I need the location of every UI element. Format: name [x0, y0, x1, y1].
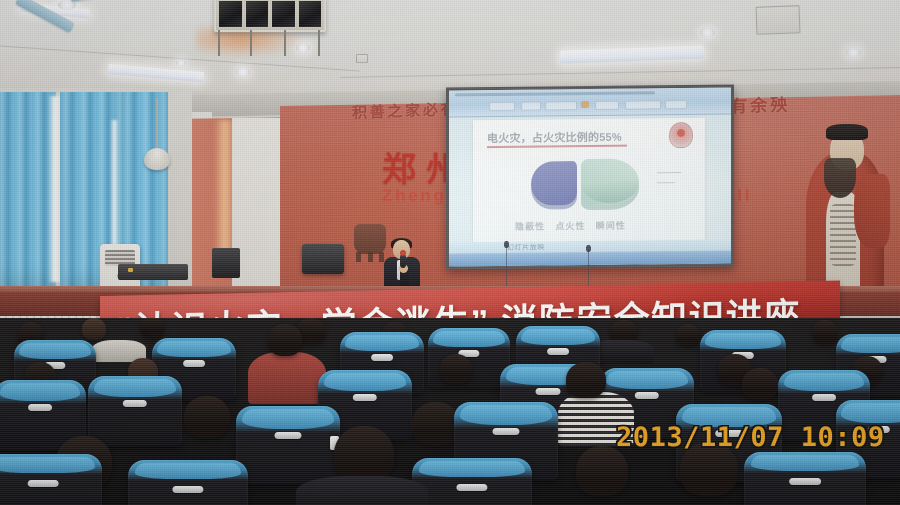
audience-seating-area: [0, 318, 900, 505]
speaker-hanging-rod: [156, 98, 158, 150]
projector-cell: [245, 0, 270, 28]
audience-head: [812, 320, 838, 344]
seat: [744, 452, 866, 505]
stage-subwoofer: [302, 244, 344, 274]
seat: [0, 454, 102, 505]
seat: [412, 458, 532, 505]
figure-sash: [830, 204, 856, 266]
audience-shoulders-red-shirt: [248, 352, 326, 404]
chart-legend-line: [657, 172, 681, 173]
seat: [128, 460, 248, 505]
downlight: [176, 60, 186, 66]
figure-sleeve: [854, 174, 890, 248]
confucius-figure-illustration: [796, 108, 900, 306]
stage-loudspeaker: [212, 248, 240, 278]
audience-shoulders: [296, 476, 428, 505]
downlight: [236, 68, 250, 76]
seat: [236, 406, 340, 484]
projector-enclosure: [214, 0, 326, 32]
mixer-indicator-light: [128, 268, 133, 272]
pie-chart: [531, 158, 649, 215]
camera-timestamp: 2013/11/07 10:09: [616, 422, 885, 453]
strip-light: [560, 45, 704, 63]
ceiling-fan: [14, 0, 124, 36]
projector-cell: [218, 0, 243, 28]
handheld-microphone: [400, 254, 406, 268]
audio-mixer: [118, 264, 188, 280]
audience-head: [140, 318, 164, 338]
chart-legend-line: [657, 182, 675, 183]
audience-head: [268, 324, 302, 356]
projector-support-rods: [218, 30, 323, 56]
urn-legs: [356, 252, 384, 262]
audience-head: [440, 354, 472, 384]
audience-head: [576, 446, 628, 496]
seat: [88, 376, 182, 446]
projection-screen: 电火灾，占火灾比例的55% 隐蔽性 点火性 瞬间性 幻灯片放映: [446, 84, 734, 269]
figure-beard: [824, 158, 856, 198]
ceiling-vent: [756, 5, 801, 35]
projected-image: 电火灾，占火灾比例的55% 隐蔽性 点火性 瞬间性 幻灯片放映: [449, 88, 731, 267]
powerpoint-slide: 电火灾，占火灾比例的55% 隐蔽性 点火性 瞬间性: [473, 118, 705, 242]
downlight: [700, 28, 715, 37]
slide-title: 电火灾，占火灾比例的55%: [487, 129, 622, 146]
projector-cell: [298, 0, 323, 28]
audience-head: [82, 318, 106, 340]
audience-head: [566, 362, 606, 398]
powerpoint-ribbon[interactable]: [449, 88, 731, 118]
slide-title-underline: [487, 145, 627, 148]
audience-head: [742, 368, 778, 400]
slide-caption: 隐蔽性 点火性 瞬间性: [515, 219, 626, 233]
windows-taskbar[interactable]: [449, 251, 731, 267]
figure-hat: [826, 124, 868, 140]
fire-department-emblem-icon: [669, 122, 693, 148]
downlight: [846, 48, 861, 57]
wall-proverb-left: 积善之家必有: [352, 98, 459, 123]
audience-head: [676, 324, 700, 346]
photograph-auditorium-fire-safety-lecture: 积善之家必有 家必有余殃 郑州 堂 Zhengzh hall: [0, 0, 900, 505]
audience-head: [184, 396, 230, 438]
ceiling-sprinkler: [356, 54, 368, 63]
ceiling-seam: [340, 67, 900, 78]
hanging-ceiling-speaker: [144, 148, 170, 170]
pie-slice-electrical-fires: [531, 161, 577, 205]
projector-cell: [271, 0, 296, 28]
audience-head: [412, 402, 460, 446]
strip-light: [108, 64, 205, 82]
powerpoint-status-text: 幻灯片放映: [507, 242, 545, 252]
